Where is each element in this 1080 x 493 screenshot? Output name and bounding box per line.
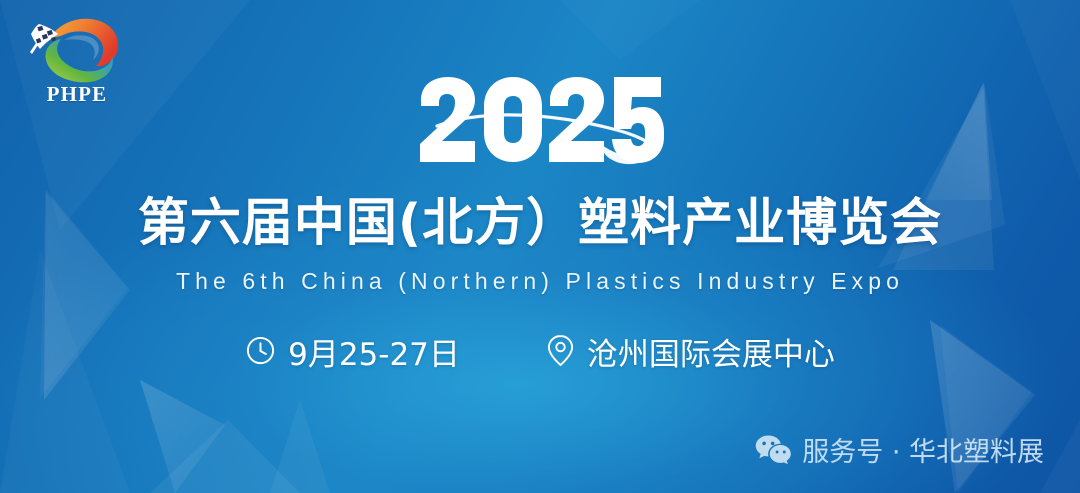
year-2025	[0, 74, 1080, 170]
decor-sliver-bottom-left	[270, 400, 330, 493]
year-2025-logotype	[415, 74, 665, 170]
page-title: 第六届中国(北方）塑料产业博览会	[0, 196, 1080, 252]
page-subtitle: The 6th China (Northern) Plastics Indust…	[0, 268, 1080, 295]
wechat-label: 服务号 · 华北塑料展	[802, 430, 1044, 469]
event-venue-label: 沧州国际会展中心	[587, 329, 835, 374]
decor-triangle-bottom-left	[140, 380, 225, 493]
decor-edge-top-mid	[560, 0, 700, 60]
decor-sliver-bottom-right	[1040, 420, 1080, 493]
event-date: 9月25-27日	[245, 328, 460, 373]
wechat-account[interactable]: 服务号 · 华北塑料展	[755, 430, 1044, 469]
location-pin-icon	[546, 334, 575, 367]
event-info-row: 9月25-27日 沧州国际会展中心	[0, 328, 1080, 373]
event-venue: 沧州国际会展中心	[546, 328, 835, 373]
expo-banner: PHPE 第六届中国(北方）塑料产业博览会 The 6th China (Nor…	[0, 0, 1080, 493]
wechat-icon	[755, 434, 791, 465]
event-date-label: 9月25-27日	[288, 329, 460, 374]
clock-icon	[245, 335, 276, 366]
decor-triangle-bottom-left-2	[150, 420, 300, 493]
